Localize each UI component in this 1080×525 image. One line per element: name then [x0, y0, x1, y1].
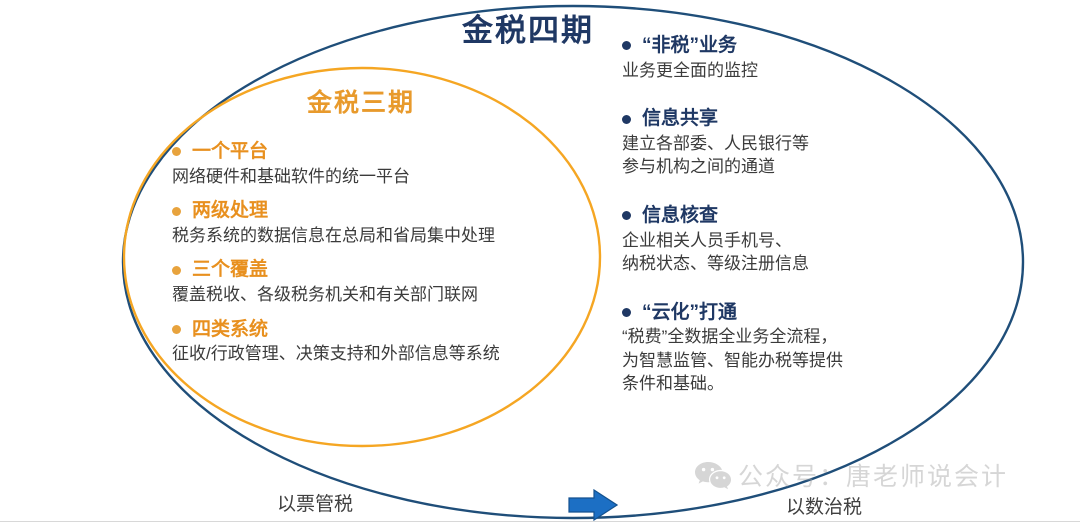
phase4-item-2-body: 建立各部委、人民银行等 参与机构之间的通道 [622, 132, 922, 179]
caption-yi-shu-zhi-shui: 以数治税 [786, 492, 862, 519]
phase4-item-3-header: 信息核查 [622, 204, 922, 228]
phase4-item-2: 信息共享 建立各部委、人民银行等 参与机构之间的通道 [622, 107, 922, 179]
watermark-text: 公众号：唐老师说会计 [738, 457, 1008, 493]
bullet-dot-icon [172, 147, 181, 156]
phase3-item-2: 两级处理 税务系统的数据信息在总局和省局集中处理 [172, 199, 592, 247]
phase4-item-1-heading: “非税”业务 [642, 34, 737, 58]
phase3-item-4-heading: 四类系统 [192, 318, 268, 342]
bullet-dot-icon [172, 325, 181, 334]
phase3-item-3-body: 覆盖税收、各级税务机关和有关部门联网 [172, 283, 592, 306]
phase3-item-1-heading: 一个平台 [192, 140, 268, 164]
right-arrow-icon [568, 489, 618, 521]
phase3-item-4-body: 征收/行政管理、决策支持和外部信息等系统 [172, 342, 592, 365]
bullet-dot-icon [622, 308, 631, 317]
phase3-item-3-heading: 三个覆盖 [192, 258, 268, 282]
wechat-logo-icon [694, 460, 732, 490]
phase3-item-2-header: 两级处理 [172, 199, 592, 223]
phase3-item-2-body: 税务系统的数据信息在总局和省局集中处理 [172, 224, 592, 247]
phase4-item-3: 信息核查 企业相关人员手机号、 纳税状态、等级注册信息 [622, 204, 922, 276]
bullet-dot-icon [622, 115, 631, 124]
phase3-item-3-header: 三个覆盖 [172, 258, 592, 282]
bullet-dot-icon [172, 266, 181, 275]
inner-title-jinshui-phase3: 金税三期 [307, 83, 415, 119]
bottom-divider [0, 521, 1080, 522]
phase4-item-1: “非税”业务 业务更全面的监控 [622, 34, 922, 82]
phase4-item-2-heading: 信息共享 [642, 107, 718, 131]
phase3-item-3: 三个覆盖 覆盖税收、各级税务机关和有关部门联网 [172, 258, 592, 306]
phase4-item-4: “云化”打通 “税费”全数据全业务全流程， 为智慧监管、智能办税等提供 条件和基… [622, 301, 922, 396]
phase3-item-4: 四类系统 征收/行政管理、决策支持和外部信息等系统 [172, 318, 592, 366]
outer-title-jinshui-phase4: 金税四期 [462, 5, 594, 50]
phase3-item-4-header: 四类系统 [172, 318, 592, 342]
wechat-watermark: 公众号：唐老师说会计 [694, 457, 1008, 493]
phase3-item-1-body: 网络硬件和基础软件的统一平台 [172, 165, 592, 188]
phase4-item-1-body: 业务更全面的监控 [622, 59, 922, 82]
phase3-item-2-heading: 两级处理 [192, 199, 268, 223]
phase3-item-list: 一个平台 网络硬件和基础软件的统一平台 两级处理 税务系统的数据信息在总局和省局… [172, 140, 592, 377]
phase4-item-4-body: “税费”全数据全业务全流程， 为智慧监管、智能办税等提供 条件和基础。 [622, 325, 922, 395]
phase4-item-4-heading: “云化”打通 [642, 301, 737, 325]
phase4-item-1-header: “非税”业务 [622, 34, 922, 58]
bullet-dot-icon [172, 207, 181, 216]
phase4-item-list: “非税”业务 业务更全面的监控 信息共享 建立各部委、人民银行等 参与机构之间的… [622, 34, 922, 421]
phase4-item-2-header: 信息共享 [622, 107, 922, 131]
bullet-dot-icon [622, 41, 631, 50]
caption-yi-piao-guan-shui: 以票管税 [277, 489, 353, 516]
phase4-item-3-heading: 信息核查 [642, 204, 718, 228]
phase4-item-4-header: “云化”打通 [622, 301, 922, 325]
phase3-item-1: 一个平台 网络硬件和基础软件的统一平台 [172, 140, 592, 188]
bullet-dot-icon [622, 211, 631, 220]
diagram-canvas: 金税四期 金税三期 一个平台 网络硬件和基础软件的统一平台 两级处理 税务系统的… [0, 0, 1080, 525]
phase3-item-1-header: 一个平台 [172, 140, 592, 164]
phase4-item-3-body: 企业相关人员手机号、 纳税状态、等级注册信息 [622, 229, 922, 276]
